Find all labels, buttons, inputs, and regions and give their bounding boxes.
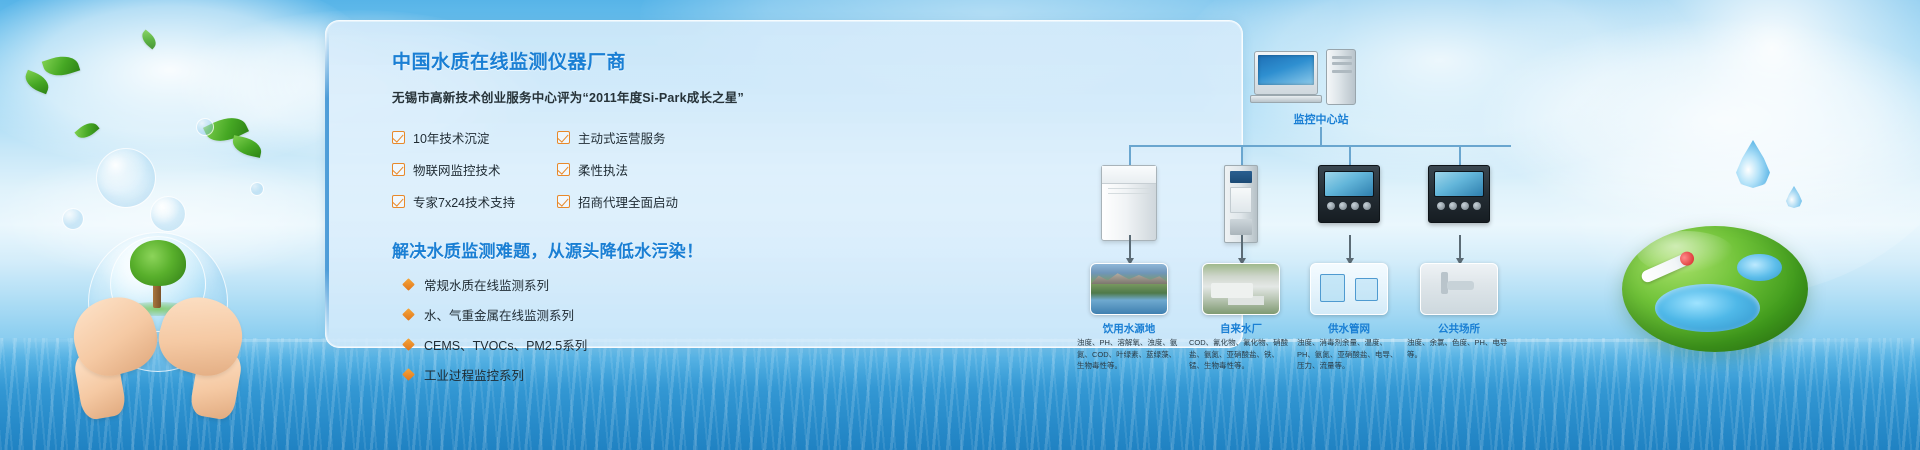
bubble-icon [250, 182, 264, 196]
application-photo-water-plant[interactable] [1202, 263, 1280, 315]
cabinet-panel [1230, 187, 1252, 213]
list-item[interactable]: CEMS、TVOCs、PM2.5系列 [392, 335, 732, 354]
checkbox-checked-icon [557, 131, 570, 144]
feature-label: 招商代理全面启动 [578, 192, 678, 211]
feature-label: 专家7x24技术支持 [413, 192, 515, 211]
device-water-analyzer-cabinet-gray[interactable] [1224, 165, 1258, 243]
controller-button-icon[interactable] [1461, 202, 1469, 210]
feature-label: 柔性执法 [578, 160, 628, 179]
list-item-label: 常规水质在线监测系列 [424, 275, 549, 294]
application-label-pipe-network: 供水管网 [1301, 321, 1397, 336]
tree-crown-icon [130, 240, 186, 286]
feature-item[interactable]: 专家7x24技术支持 [392, 192, 557, 211]
feature-item[interactable]: 招商代理全面启动 [557, 192, 722, 211]
device-online-controller-1[interactable] [1318, 165, 1380, 223]
controller-button-icon[interactable] [1327, 202, 1335, 210]
application-desc-river: 浊度、PH、溶解氧、浊度、氨氮、COD、叶绿素、蓝绿藻、生物毒性等。 [1077, 337, 1181, 372]
application-label-water-plant: 自来水厂 [1193, 321, 1289, 336]
monitor-icon [1254, 51, 1318, 95]
monitoring-center-label: 监控中心站 [1231, 111, 1411, 127]
feature-label: 物联网监控技术 [413, 160, 501, 179]
main-banner-panel: 中国水质在线监测仪器厂商 无锡市高新技术创业服务中心评为“2011年度Si-Pa… [325, 20, 1243, 348]
leaf-icon [74, 118, 99, 142]
controller-button-icon[interactable] [1449, 202, 1457, 210]
checkbox-checked-icon [557, 163, 570, 176]
arrow-down-icon [1349, 235, 1351, 259]
list-item[interactable]: 水、气重金属在线监测系列 [392, 305, 732, 324]
page-title: 中国水质在线监测仪器厂商 [392, 47, 732, 74]
monitor-screen [1258, 55, 1314, 85]
feature-label: 主动式运营服务 [578, 128, 666, 147]
diamond-bullet-icon [402, 368, 415, 381]
device-water-analyzer-cabinet-white[interactable] [1101, 165, 1157, 241]
checkbox-checked-icon [392, 163, 405, 176]
tower-slot [1332, 62, 1352, 65]
controller-button-icon[interactable] [1363, 202, 1371, 210]
cabinet-seam [1108, 193, 1150, 194]
cabinet-display [1230, 171, 1252, 183]
application-label-public-place: 公共场所 [1411, 321, 1507, 336]
list-item-label: 水、气重金属在线监测系列 [424, 305, 574, 324]
cloud-icon [0, 0, 380, 170]
grass-globe-icon [1622, 226, 1808, 352]
diamond-bullet-icon [402, 308, 415, 321]
cabinet-body [1224, 165, 1258, 243]
connector-line-branch [1459, 145, 1461, 165]
cabinet-body [1101, 165, 1157, 241]
product-series-list: 常规水质在线监测系列 水、气重金属在线监测系列 CEMS、TVOCs、PM2.5… [392, 275, 732, 384]
bubble-icon [150, 196, 186, 232]
connector-line-vertical [1320, 127, 1322, 145]
checkbox-checked-icon [392, 195, 405, 208]
controller-buttons [1434, 202, 1484, 210]
cabinet-top-panel [1102, 166, 1156, 184]
leaf-icon [22, 70, 52, 95]
arrow-down-icon [1241, 235, 1243, 259]
leaf-icon [42, 51, 81, 81]
connector-line-horizontal [1129, 145, 1511, 147]
bubble-icon [96, 148, 156, 208]
leaf-icon [231, 135, 264, 158]
arrow-down-icon [1129, 235, 1131, 259]
application-desc-public-place: 浊度、余氯、色度、PH、电导等。 [1407, 337, 1511, 360]
connector-line-branch [1129, 145, 1131, 165]
application-desc-water-plant: COD、氰化物、氟化物、硝酸盐、氨氮、亚硝酸盐、铁、锰、生物毒性等。 [1189, 337, 1293, 372]
application-label-river: 饮用水源地 [1081, 321, 1177, 336]
controller-body [1428, 165, 1490, 223]
water-drop-small-icon [1786, 186, 1802, 208]
sea-water [0, 338, 1920, 450]
controller-button-icon[interactable] [1351, 202, 1359, 210]
list-item[interactable]: 工业过程监控系列 [392, 365, 732, 384]
diamond-bullet-icon [402, 278, 415, 291]
feature-item[interactable]: 主动式运营服务 [557, 128, 722, 147]
tower-slot [1332, 70, 1352, 73]
controller-buttons [1324, 202, 1374, 210]
bubble-icon [196, 118, 214, 136]
checkbox-checked-icon [392, 131, 405, 144]
cabinet-seam [1108, 188, 1150, 189]
device-online-controller-2[interactable] [1428, 165, 1490, 223]
controller-button-icon[interactable] [1339, 202, 1347, 210]
cabinet-base [1230, 219, 1252, 235]
controller-display [1324, 171, 1374, 197]
feature-checklist: 10年技术沉淀 主动式运营服务 物联网监控技术 柔性执法 专家7x24技术支持 … [392, 128, 732, 211]
controller-button-icon[interactable] [1437, 202, 1445, 210]
application-photo-pipe-network[interactable] [1310, 263, 1388, 315]
banner-text-column: 中国水质在线监测仪器厂商 无锡市高新技术创业服务中心评为“2011年度Si-Pa… [392, 47, 732, 395]
checkbox-checked-icon [557, 195, 570, 208]
application-photo-public-place[interactable] [1420, 263, 1498, 315]
controller-button-icon[interactable] [1473, 202, 1481, 210]
keyboard-icon [1250, 95, 1322, 103]
list-item[interactable]: 常规水质在线监测系列 [392, 275, 732, 294]
controller-display [1434, 171, 1484, 197]
connector-line-branch [1349, 145, 1351, 165]
section-heading: 解决水质监测难题，从源头降低水污染！ [392, 237, 732, 262]
arrow-down-icon [1459, 235, 1461, 259]
globe-lake-icon [1655, 284, 1759, 332]
bubble-icon [62, 208, 84, 230]
controller-body [1318, 165, 1380, 223]
leaf-icon [139, 30, 160, 50]
globe-pond-icon [1737, 254, 1782, 282]
page-subtitle: 无锡市高新技术创业服务中心评为“2011年度Si-Park成长之星” [392, 87, 732, 106]
feature-item[interactable]: 柔性执法 [557, 160, 722, 179]
water-drop-icon [1736, 140, 1770, 188]
monitoring-system-diagram: 监控中心站 [1081, 45, 1561, 355]
tower-slot [1332, 56, 1352, 59]
water-sparkle [0, 338, 1920, 450]
connector-line-branch [1241, 145, 1243, 165]
monitoring-center-computer [1254, 51, 1386, 105]
application-desc-pipe-network: 浊度、消毒剂余量、温度、PH、氨氮、亚硝酸盐、电导、压力、流量等。 [1297, 337, 1401, 372]
feature-label: 10年技术沉淀 [413, 128, 489, 147]
application-photo-river[interactable] [1090, 263, 1168, 315]
feature-item[interactable]: 物联网监控技术 [392, 160, 557, 179]
list-item-label: 工业过程监控系列 [424, 365, 524, 384]
diamond-bullet-icon [402, 338, 415, 351]
feature-item[interactable]: 10年技术沉淀 [392, 128, 557, 147]
list-item-label: CEMS、TVOCs、PM2.5系列 [424, 335, 587, 354]
pc-tower-icon [1326, 49, 1356, 105]
